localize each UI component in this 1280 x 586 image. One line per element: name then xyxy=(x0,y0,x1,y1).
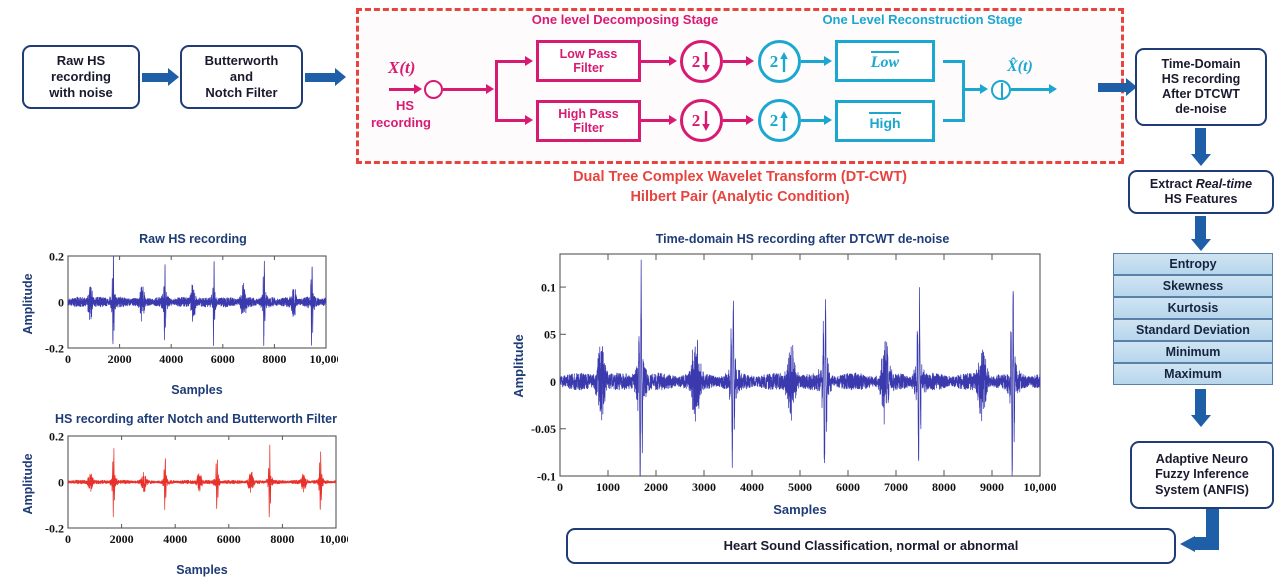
x-tick-label: 2000 xyxy=(108,352,132,366)
x-tick-label: 6000 xyxy=(217,532,241,546)
upsample-2-bottom: 2 xyxy=(758,99,801,142)
chart-dtcwt: Time-domain HS recording after DTCWT de-… xyxy=(505,232,1060,532)
summing-node-icon xyxy=(992,81,1012,101)
time-domain-label: Time-Domain HS recording After DTCWT de-… xyxy=(1162,57,1241,118)
y-tick-label: -0.1 xyxy=(537,469,556,483)
chart-dtcwt-plot: 010002000300040005000600070008000900010,… xyxy=(505,246,1060,524)
extract-suffix: HS Features xyxy=(1165,192,1238,206)
output-signal-symbol: X̂(t) xyxy=(1007,58,1033,76)
input-arrowhead-2 xyxy=(486,84,494,94)
up-arrow-icon-top xyxy=(779,51,789,73)
x-tick-label: 2000 xyxy=(644,480,668,494)
downsample-2-bottom: 2 xyxy=(680,99,723,142)
input-recording-label: recording xyxy=(371,115,431,130)
time-domain-box: Time-Domain HS recording After DTCWT de-… xyxy=(1135,48,1267,126)
y-axis-label: Amplitude xyxy=(21,273,35,334)
merge-to-node-line xyxy=(962,88,982,91)
chart-filtered-hs: HS recording after Notch and Butterworth… xyxy=(18,412,348,584)
input-summing-node xyxy=(424,80,443,99)
arrow-dtcwt-to-timedomain xyxy=(1098,78,1140,96)
feature-list: Entropy Skewness Kurtosis Standard Devia… xyxy=(1113,253,1273,385)
down-arrow-icon-top xyxy=(701,51,711,73)
output-line xyxy=(1011,88,1051,91)
x-tick-label: 0 xyxy=(557,480,563,494)
x-tick-label: 5000 xyxy=(788,480,812,494)
x-tick-label: 1000 xyxy=(596,480,620,494)
x-tick-label: 6000 xyxy=(211,352,235,366)
x-tick-label: 4000 xyxy=(163,532,187,546)
x-tick-label: 3000 xyxy=(692,480,716,494)
split-bus-top-branch xyxy=(495,60,527,63)
down-to-up-line-bottom xyxy=(723,119,748,122)
upsample-bottom-label: 2 xyxy=(770,111,779,131)
x-tick-label: 7000 xyxy=(884,480,908,494)
x-tick-label: 0 xyxy=(65,532,71,546)
split-bus-vertical xyxy=(495,60,498,122)
y-tick-label: -0.2 xyxy=(45,341,64,355)
raw-hs-recording-box: Raw HS recording with noise xyxy=(22,45,140,109)
extract-italic: Real-time xyxy=(1196,177,1252,191)
x-tick-label: 10,000 xyxy=(1024,480,1057,494)
decomposing-stage-title: One level Decomposing Stage xyxy=(500,12,750,27)
input-line-1 xyxy=(389,88,416,91)
arrow-features-to-anfis xyxy=(1189,389,1213,429)
merge-arrowhead xyxy=(980,84,988,94)
feature-item-maximum: Maximum xyxy=(1113,363,1273,385)
arrow-extract-to-features xyxy=(1189,216,1213,252)
classification-box: Heart Sound Classification, normal or ab… xyxy=(566,528,1176,564)
feature-item-skewness: Skewness xyxy=(1113,275,1273,297)
hpf-to-down-arrowhead xyxy=(669,115,677,125)
y-tick-label: 0 xyxy=(58,295,64,309)
down-to-up-line-top xyxy=(723,60,748,63)
down-to-up-arrowhead-bottom xyxy=(746,115,754,125)
split-arrowhead-top xyxy=(525,56,533,66)
arrow-anfis-to-classification xyxy=(1180,509,1280,569)
downsample-2-top: 2 xyxy=(680,40,723,83)
dtcwt-caption-line2: Hilbert Pair (Analytic Condition) xyxy=(356,189,1124,205)
y-tick-label: 0.1 xyxy=(541,280,556,294)
chart-raw-hs: Raw HS recording 0200040006000800010,000… xyxy=(18,232,338,404)
output-summing-node xyxy=(991,80,1011,100)
anfis-box: Adaptive Neuro Fuzzy Inference System (A… xyxy=(1130,441,1274,509)
split-arrowhead-bottom xyxy=(525,115,533,125)
output-arrowhead xyxy=(1049,84,1057,94)
x-axis-label: Samples xyxy=(176,563,227,577)
y-axis-label: Amplitude xyxy=(511,334,526,398)
chart-dtcwt-title: Time-domain HS recording after DTCWT de-… xyxy=(545,232,1060,246)
feature-item-kurtosis: Kurtosis xyxy=(1113,297,1273,319)
high-reconstruction-label: High xyxy=(869,112,900,131)
reconstruction-stage-title: One Level Reconstruction Stage xyxy=(790,12,1055,27)
feature-item-entropy: Entropy xyxy=(1113,253,1273,275)
low-pass-filter-box: Low Pass Filter xyxy=(536,40,641,82)
extract-prefix: Extract xyxy=(1150,177,1196,191)
hpf-to-down-line xyxy=(641,119,671,122)
y-axis-label: Amplitude xyxy=(21,453,35,514)
y-tick-label: 0 xyxy=(58,475,64,489)
x-axis-label: Samples xyxy=(773,502,826,517)
x-tick-label: 8000 xyxy=(270,532,294,546)
arrow-raw-to-filter xyxy=(142,68,180,86)
up-to-recon-line-top xyxy=(801,60,826,63)
y-tick-label: 0.2 xyxy=(49,249,64,263)
downsample-bottom-label: 2 xyxy=(692,111,701,131)
chart-raw-hs-plot: 0200040006000800010,000-0.200.2Amplitude… xyxy=(18,246,338,401)
x-axis-label: Samples xyxy=(171,383,222,397)
up-to-recon-line-bottom xyxy=(801,119,826,122)
x-tick-label: 10,000 xyxy=(320,532,349,546)
up-arrow-icon-bottom xyxy=(779,110,789,132)
x-tick-label: 4000 xyxy=(740,480,764,494)
y-tick-label: 0 xyxy=(550,375,556,389)
merge-bus-vertical xyxy=(962,60,965,122)
y-tick-label: -0.05 xyxy=(531,422,556,436)
x-tick-label: 2000 xyxy=(110,532,134,546)
input-signal-symbol: X(t) xyxy=(388,58,415,78)
input-hs-label: HS xyxy=(396,98,414,113)
chart-filtered-hs-title: HS recording after Notch and Butterworth… xyxy=(44,412,348,426)
y-tick-label: -0.2 xyxy=(45,521,64,535)
low-reconstruction-label: Low xyxy=(871,51,899,72)
lpf-to-down-line xyxy=(641,60,671,63)
low-reconstruction-box: Low xyxy=(835,40,935,82)
butterworth-notch-filter-label: Butterworth and Notch Filter xyxy=(205,53,279,101)
input-line-2 xyxy=(443,88,488,91)
anfis-label: Adaptive Neuro Fuzzy Inference System (A… xyxy=(1155,452,1249,498)
down-to-up-arrowhead-top xyxy=(746,56,754,66)
x-tick-label: 8000 xyxy=(932,480,956,494)
y-tick-label: 05 xyxy=(544,328,556,342)
extract-features-box: Extract Real-time HS Features xyxy=(1128,170,1274,214)
extract-features-label: Extract Real-time HS Features xyxy=(1150,177,1252,208)
x-tick-label: 9000 xyxy=(980,480,1004,494)
downsample-top-label: 2 xyxy=(692,52,701,72)
chart-raw-hs-title: Raw HS recording xyxy=(48,232,338,246)
x-tick-label: 0 xyxy=(65,352,71,366)
up-to-recon-arrowhead-top xyxy=(824,56,832,66)
classification-label: Heart Sound Classification, normal or ab… xyxy=(724,538,1019,554)
feature-item-minimum: Minimum xyxy=(1113,341,1273,363)
x-tick-label: 8000 xyxy=(262,352,286,366)
feature-item-standard-deviation: Standard Deviation xyxy=(1113,319,1273,341)
input-arrowhead-1 xyxy=(414,84,422,94)
upsample-top-label: 2 xyxy=(770,52,779,72)
butterworth-notch-filter-box: Butterworth and Notch Filter xyxy=(180,45,303,109)
x-tick-label: 4000 xyxy=(159,352,183,366)
high-pass-filter-box: High Pass Filter xyxy=(536,100,641,142)
dtcwt-caption-line1: Dual Tree Complex Wavelet Transform (DT-… xyxy=(356,169,1124,185)
arrow-filter-to-dtcwt xyxy=(305,68,349,86)
low-pass-filter-label: Low Pass Filter xyxy=(560,47,618,76)
split-bus-bottom-branch xyxy=(495,119,527,122)
lpf-to-down-arrowhead xyxy=(669,56,677,66)
chart-filtered-hs-plot: 0200040006000800010,000-0.200.2Amplitude… xyxy=(18,426,348,581)
upsample-2-top: 2 xyxy=(758,40,801,83)
down-arrow-icon-bottom xyxy=(701,110,711,132)
x-tick-label: 6000 xyxy=(836,480,860,494)
high-reconstruction-box: High xyxy=(835,100,935,142)
high-pass-filter-label: High Pass Filter xyxy=(558,107,618,136)
raw-hs-recording-label: Raw HS recording with noise xyxy=(49,53,113,101)
x-tick-label: 10,000 xyxy=(310,352,339,366)
y-tick-label: 0.2 xyxy=(49,429,64,443)
arrow-timedomain-to-extract xyxy=(1189,128,1213,166)
up-to-recon-arrowhead-bottom xyxy=(824,115,832,125)
